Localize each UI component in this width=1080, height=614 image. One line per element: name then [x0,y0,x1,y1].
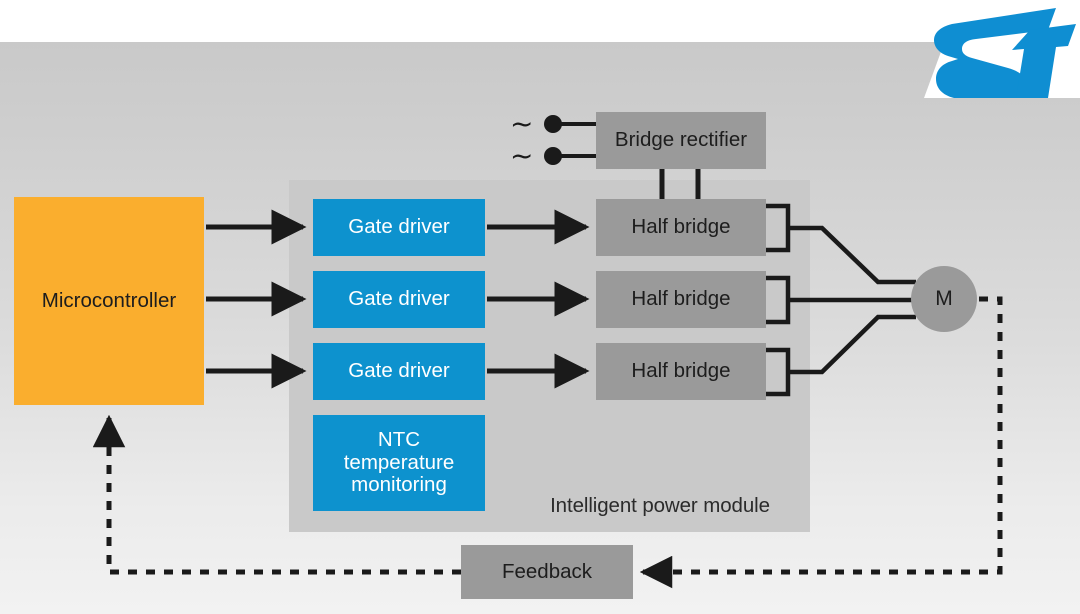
block-gate-driver-1[interactable]: Gate driver [313,199,485,256]
ntc-line-2: temperature [344,452,455,475]
diagram-canvas: Intelligent power module [0,0,1080,614]
motor-symbol[interactable]: M [911,266,977,332]
block-gate-driver-2[interactable]: Gate driver [313,271,485,328]
module-label: Intelligent power module [525,494,795,518]
st-logo-svg [880,0,1080,98]
ac-symbol-2: ~ [510,142,533,170]
block-feedback[interactable]: Feedback [461,545,633,599]
ntc-line-3: monitoring [344,474,455,497]
block-gate-driver-3[interactable]: Gate driver [313,343,485,400]
block-half-bridge-2[interactable]: Half bridge [596,271,766,328]
block-ntc-temperature-monitoring[interactable]: NTC temperature monitoring [313,415,485,511]
st-logo [880,0,1080,98]
block-bridge-rectifier[interactable]: Bridge rectifier [596,112,766,169]
ac-symbol-1: ~ [510,110,533,138]
block-microcontroller[interactable]: Microcontroller [14,197,204,405]
ntc-line-1: NTC [344,429,455,452]
block-half-bridge-1[interactable]: Half bridge [596,199,766,256]
block-half-bridge-3[interactable]: Half bridge [596,343,766,400]
